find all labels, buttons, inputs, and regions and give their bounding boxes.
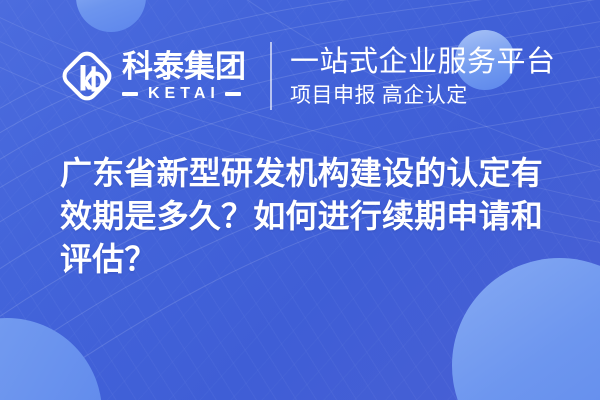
banner-header: 科泰集团 KETAI 一站式企业服务平台 项目申报 高企认定 bbox=[0, 38, 600, 114]
logo-dash-left bbox=[122, 92, 138, 96]
header-divider bbox=[270, 42, 272, 110]
tagline-block: 一站式企业服务平台 项目申报 高企认定 bbox=[290, 45, 556, 108]
logo-company-name-en: KETAI bbox=[143, 86, 220, 102]
ketai-logo-icon bbox=[60, 48, 114, 104]
logo-dash-right bbox=[225, 92, 241, 96]
logo-company-name-cn: 科泰集团 bbox=[122, 51, 246, 83]
tagline-primary: 一站式企业服务平台 bbox=[290, 45, 556, 79]
tagline-secondary: 项目申报 高企认定 bbox=[290, 82, 556, 108]
logo-english-row: KETAI bbox=[122, 86, 246, 101]
promo-banner: 科泰集团 KETAI 一站式企业服务平台 项目申报 高企认定 广东省新型研发机构… bbox=[0, 0, 600, 400]
page-title: 广东省新型研发机构建设的认定有效期是多久？如何进行续期申请和评估？ bbox=[60, 152, 550, 281]
logo-wordmark: 科泰集团 KETAI bbox=[122, 51, 246, 101]
brand-lockup[interactable]: 科泰集团 KETAI bbox=[60, 48, 246, 104]
